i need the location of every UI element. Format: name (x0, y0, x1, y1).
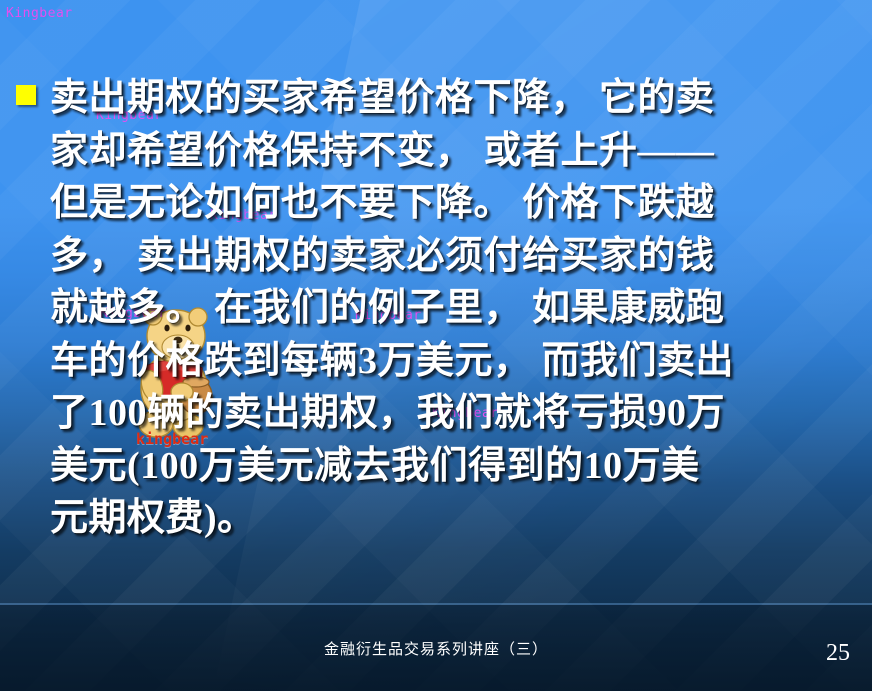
presentation-slide: Kingbear Kingbear Kingbear Kingbear King… (0, 0, 872, 691)
footer-title: 金融衍生品交易系列讲座（三） (0, 638, 872, 659)
body-line-5: 就越多。 在我们的例子里， 如果康威跑 (50, 282, 860, 335)
body-line-8: 美元(100万美元减去我们得到的10万美 (50, 440, 860, 493)
body-line-1: 卖出期权的买家希望价格下降， 它的卖 (50, 72, 860, 125)
body-paragraph: 卖出期权的买家希望价格下降， 它的卖 家却希望价格保持不变， 或者上升—— 但是… (50, 72, 860, 545)
bullet-item: 卖出期权的买家希望价格下降， 它的卖 家却希望价格保持不变， 或者上升—— 但是… (16, 72, 860, 545)
body-line-6: 车的价格跌到每辆3万美元， 而我们卖出 (50, 335, 860, 388)
slide-body: 卖出期权的买家希望价格下降， 它的卖 家却希望价格保持不变， 或者上升—— 但是… (16, 72, 860, 545)
body-line-9: 元期权费)。 (50, 492, 860, 545)
body-line-3: 但是无论如何也不要下降。 价格下跌越 (50, 177, 860, 230)
body-line-7: 了100辆的卖出期权，我们就将亏损90万 (50, 387, 860, 440)
body-line-4: 多， 卖出期权的卖家必须付给买家的钱 (50, 230, 860, 283)
page-number: 25 (826, 640, 850, 667)
bullet-square-icon (16, 85, 36, 105)
body-line-2: 家却希望价格保持不变， 或者上升—— (50, 125, 860, 178)
